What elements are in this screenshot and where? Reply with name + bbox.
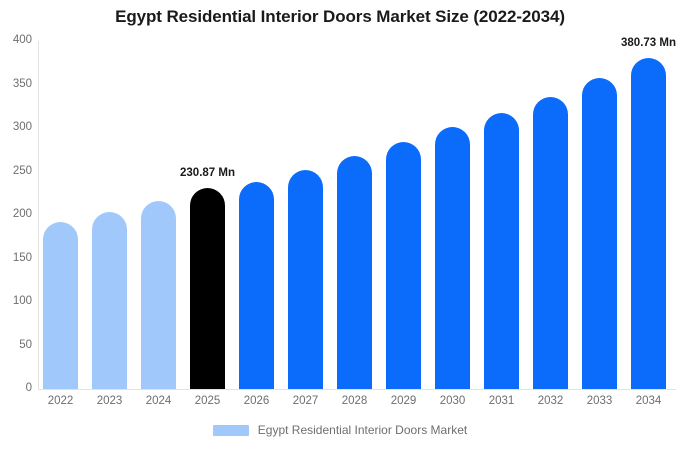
y-axis-tick-label: 100 [2,296,32,308]
x-axis-tick-label: 2032 [526,396,575,408]
bar-value-label-2034: 380.73 Mn [621,38,676,50]
x-axis-tick-label: 2030 [428,396,477,408]
x-axis-tick-label: 2029 [379,396,428,408]
y-axis-tick-label: 400 [2,35,32,47]
y-axis-tick-label: 350 [2,79,32,91]
chart-legend: Egypt Residential Interior Doors Market [0,424,680,436]
x-axis-line [38,389,676,390]
page-title: Egypt Residential Interior Doors Market … [0,7,680,27]
plot-area [38,41,676,389]
x-axis-tick-label: 2025 [183,396,232,408]
x-axis-tick-label: 2028 [330,396,379,408]
bar-2033[interactable] [582,78,617,389]
bar-2031[interactable] [484,113,519,389]
y-axis-tick-label: 300 [2,122,32,134]
x-axis-tick-label: 2023 [85,396,134,408]
x-axis-tick-label: 2034 [624,396,673,408]
bar-2027[interactable] [288,170,323,389]
x-axis-tick-label: 2024 [134,396,183,408]
x-axis-tick-label: 2031 [477,396,526,408]
bar-2023[interactable] [92,212,127,389]
bar-2025[interactable] [190,188,225,389]
legend-swatch[interactable] [213,425,249,436]
x-axis-tick-label: 2033 [575,396,624,408]
y-axis-tick-label: 250 [2,166,32,178]
y-axis-tick-labels: 400350300250200150100500 [0,0,32,450]
bar-2024[interactable] [141,201,176,389]
bar-2030[interactable] [435,127,470,389]
bar-2032[interactable] [533,97,568,389]
y-axis-tick-label: 50 [2,340,32,352]
bar-2026[interactable] [239,182,274,389]
bar-2028[interactable] [337,156,372,389]
y-axis-tick-label: 150 [2,253,32,265]
x-axis-tick-label: 2027 [281,396,330,408]
bar-2022[interactable] [43,222,78,389]
x-axis-tick-label: 2022 [36,396,85,408]
chart-container: Egypt Residential Interior Doors Market … [0,0,680,450]
bar-2034[interactable] [631,58,666,389]
legend-label[interactable]: Egypt Residential Interior Doors Market [258,424,467,436]
y-axis-tick-label: 200 [2,209,32,221]
x-axis-tick-label: 2026 [232,396,281,408]
bar-value-label-2025: 230.87 Mn [180,168,235,180]
bar-2029[interactable] [386,142,421,389]
y-axis-tick-label: 0 [2,383,32,395]
